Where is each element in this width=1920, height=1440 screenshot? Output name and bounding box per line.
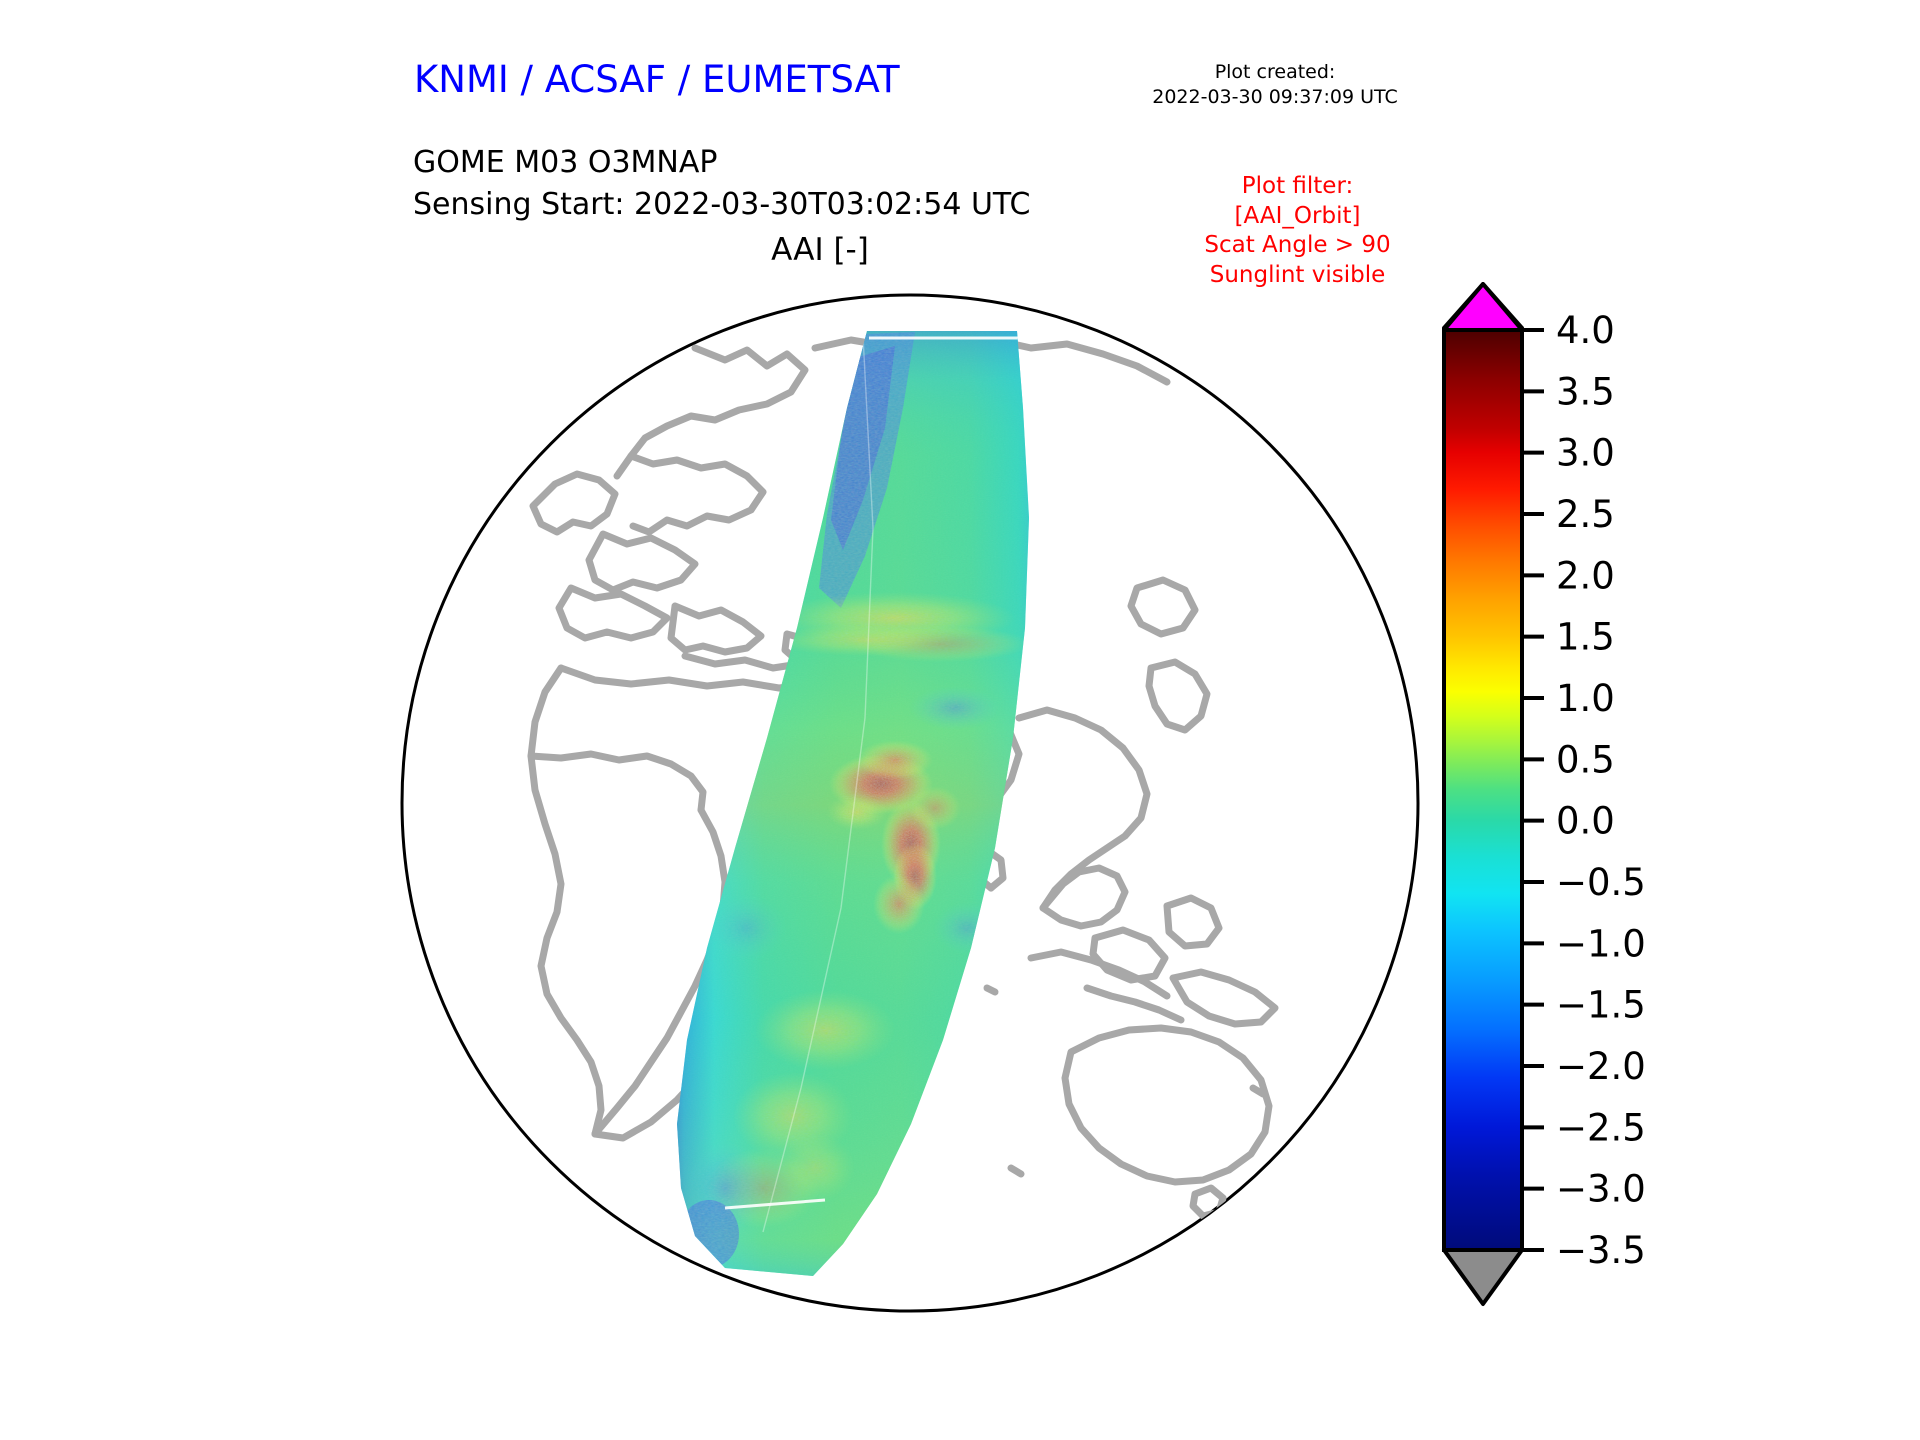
coast-new-zealand-south [1271,1170,1303,1196]
colorbar-tick-label: −2.0 [1556,1045,1646,1088]
colorbar-tick-label: −2.5 [1556,1106,1646,1149]
colorbar-panel: 4.03.53.02.52.01.51.00.50.0−0.5−1.0−1.5−… [1436,282,1666,1312]
colorbar-tick-label: 0.5 [1556,738,1615,781]
institutes-header: KNMI / ACSAF / EUMETSAT [414,58,900,101]
page-title: AAI [-] [690,232,950,268]
colorbar-ticks: 4.03.53.02.52.01.51.00.50.0−0.5−1.0−1.5−… [1522,309,1646,1272]
colorbar-tick-label: 4.0 [1556,309,1615,352]
colorbar-tick-label: −0.5 [1556,861,1646,904]
plot-filter-block: Plot filter: [AAI_Orbit] Scat Angle > 90… [1155,172,1440,290]
colorbar-tick-label: 2.0 [1556,554,1615,597]
plot-canvas: KNMI / ACSAF / EUMETSAT Plot created: 20… [0,0,1920,1440]
plot-filter-scat-angle: Scat Angle > 90 [1155,231,1440,261]
colorbar-tick-label: 3.0 [1556,432,1615,475]
colorbar-tick-label: 1.5 [1556,616,1615,659]
coast-island-a [987,988,995,992]
colorbar-tick-label: 0.0 [1556,800,1615,843]
plot-created-label: Plot created: [1100,60,1450,85]
colorbar-tick-label: −3.0 [1556,1168,1646,1211]
map-panel [395,288,1425,1318]
plot-created-block: Plot created: 2022-03-30 09:37:09 UTC [1100,60,1450,110]
plot-created-timestamp: 2022-03-30 09:37:09 UTC [1100,85,1450,110]
colorbar-tick-label: −3.5 [1556,1229,1646,1272]
globe-map [395,288,1425,1318]
product-name: GOME M03 O3MNAP [413,142,1030,184]
colorbar-tick-label: −1.0 [1556,922,1646,965]
colorbar-gradient [1444,330,1522,1250]
colorbar-tick-label: 2.5 [1556,493,1615,536]
colorbar-under-arrow [1444,1250,1522,1304]
colorbar-tick-label: −1.5 [1556,984,1646,1027]
product-info-block: GOME M03 O3MNAP Sensing Start: 2022-03-3… [413,142,1030,226]
colorbar-tick-label: 1.0 [1556,677,1615,720]
colorbar-tick-label: 3.5 [1556,370,1615,413]
sensing-start: Sensing Start: 2022-03-30T03:02:54 UTC [413,184,1030,226]
plot-filter-sunglint: Sunglint visible [1155,261,1440,291]
plot-filter-label: Plot filter: [1155,172,1440,202]
colorbar: 4.03.53.02.52.01.51.00.50.0−0.5−1.0−1.5−… [1436,282,1666,1312]
plot-filter-dataset: [AAI_Orbit] [1155,202,1440,232]
coast-new-zealand-north [1295,1134,1325,1162]
colorbar-over-arrow-fill [1444,284,1522,330]
